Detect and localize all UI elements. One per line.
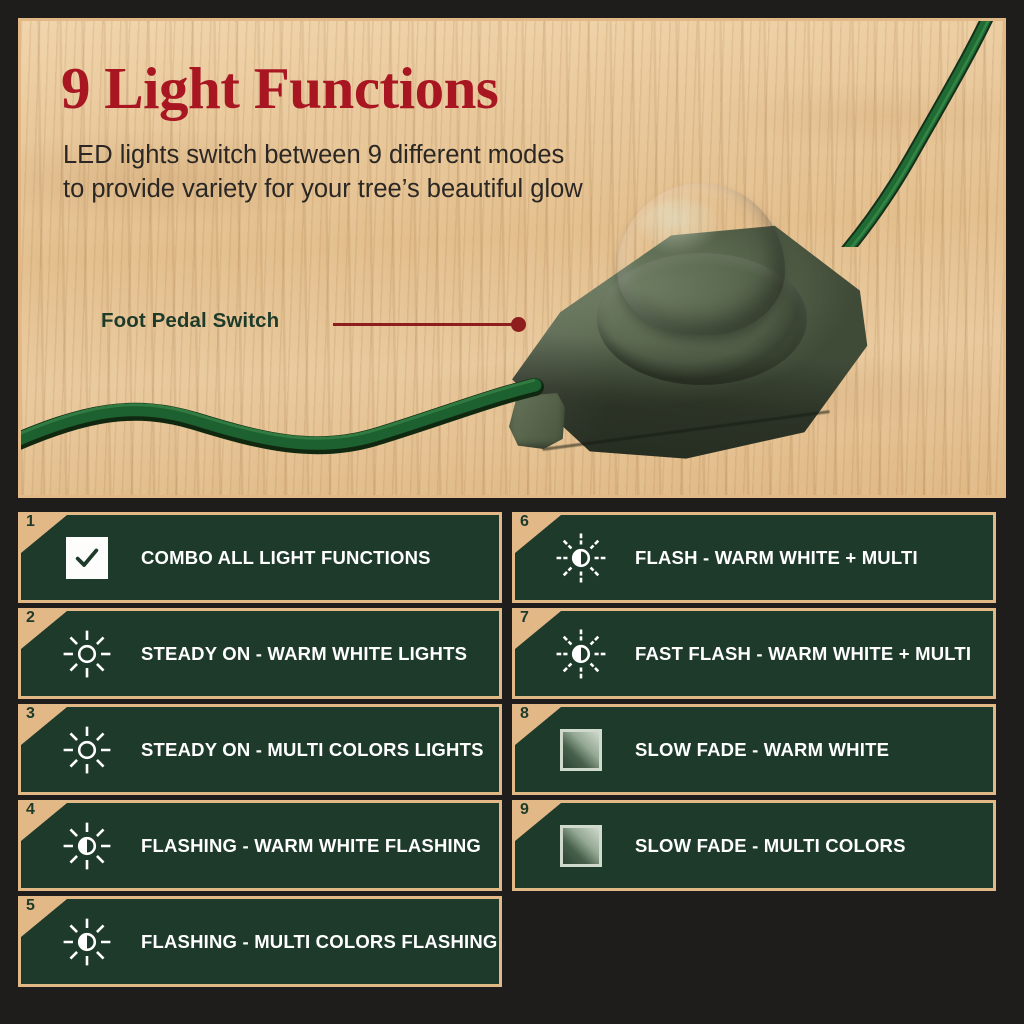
function-label: SLOW FADE - WARM WHITE [635,739,889,761]
function-row[interactable]: FLASH - WARM WHITE + MULTI6 [512,512,996,603]
function-row[interactable]: COMBO ALL LIGHT FUNCTIONS1 [18,512,502,603]
function-row[interactable]: STEADY ON - MULTI COLORS LIGHTS3 [18,704,502,795]
function-row[interactable]: STEADY ON - WARM WHITE LIGHTS2 [18,608,502,699]
function-row-panel: FLASHING - WARM WHITE FLASHING [21,803,499,888]
light-functions-list: COMBO ALL LIGHT FUNCTIONS1STEADY ON - WA… [18,512,1006,1006]
sun-half-dashed-icon [555,628,607,680]
sun-half-solid-icon [61,916,113,968]
sun-half-solid-icon [61,820,113,872]
function-number: 2 [26,610,35,626]
functions-column-left: COMBO ALL LIGHT FUNCTIONS1STEADY ON - WA… [18,512,502,992]
function-number: 6 [520,514,529,530]
fade-gradient-square-icon [560,729,602,771]
function-number: 8 [520,706,529,722]
functions-column-right: FLASH - WARM WHITE + MULTI6FAST FLASH - … [512,512,996,896]
callout-leader-line [333,323,518,326]
pedal-cord-strain-relief [509,393,565,449]
function-icon-slot [59,530,115,586]
function-number: 1 [26,514,35,530]
function-label: FLASHING - MULTI COLORS FLASHING [141,931,498,953]
foot-pedal-switch [489,161,889,481]
function-label: FLASH - WARM WHITE + MULTI [635,547,918,569]
fade-gradient-square-icon [560,825,602,867]
callout-dot [511,317,526,332]
sun-steady-icon [61,724,113,776]
function-row-panel: SLOW FADE - MULTI COLORS [515,803,993,888]
function-icon-slot [59,914,115,970]
function-icon-slot [59,722,115,778]
function-number: 3 [26,706,35,722]
function-icon-slot [553,722,609,778]
product-photo-panel: 9 Light Functions LED lights switch betw… [18,18,1006,498]
function-row-panel: FAST FLASH - WARM WHITE + MULTI [515,611,993,696]
function-number: 9 [520,802,529,818]
function-number: 7 [520,610,529,626]
function-row-panel: STEADY ON - MULTI COLORS LIGHTS [21,707,499,792]
function-row-panel: STEADY ON - WARM WHITE LIGHTS [21,611,499,696]
function-label: FLASHING - WARM WHITE FLASHING [141,835,481,857]
function-row[interactable]: FLASHING - WARM WHITE FLASHING4 [18,800,502,891]
function-row[interactable]: FAST FLASH - WARM WHITE + MULTI7 [512,608,996,699]
function-label: STEADY ON - WARM WHITE LIGHTS [141,643,467,665]
function-row[interactable]: FLASHING - MULTI COLORS FLASHING5 [18,896,502,987]
checkbox-checked-icon [66,537,108,579]
sun-steady-icon [61,628,113,680]
function-row[interactable]: SLOW FADE - WARM WHITE8 [512,704,996,795]
function-label: STEADY ON - MULTI COLORS LIGHTS [141,739,484,761]
function-number: 5 [26,898,35,914]
function-row[interactable]: SLOW FADE - MULTI COLORS9 [512,800,996,891]
pedal-dome-highlight [641,199,723,255]
function-row-panel: FLASH - WARM WHITE + MULTI [515,515,993,600]
page-subtitle: LED lights switch between 9 different mo… [63,139,583,207]
function-icon-slot [59,818,115,874]
page-title: 9 Light Functions [61,59,498,118]
function-row-panel: SLOW FADE - WARM WHITE [515,707,993,792]
function-row-panel: FLASHING - MULTI COLORS FLASHING [21,899,499,984]
function-row-panel: COMBO ALL LIGHT FUNCTIONS [21,515,499,600]
function-number: 4 [26,802,35,818]
function-label: COMBO ALL LIGHT FUNCTIONS [141,547,431,569]
function-icon-slot [59,626,115,682]
function-icon-slot [553,626,609,682]
function-icon-slot [553,818,609,874]
function-label: SLOW FADE - MULTI COLORS [635,835,906,857]
sun-half-dashed-icon [555,532,607,584]
callout-label: Foot Pedal Switch [101,309,279,333]
function-icon-slot [553,530,609,586]
function-label: FAST FLASH - WARM WHITE + MULTI [635,643,971,665]
